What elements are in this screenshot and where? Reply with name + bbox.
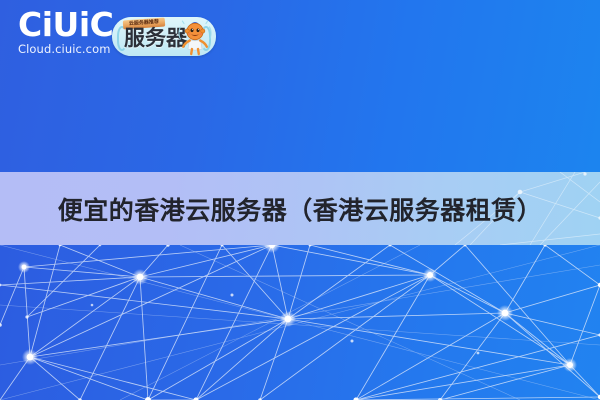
network-graphic-zone <box>0 245 600 400</box>
network-constellation-graphic <box>0 245 600 400</box>
title-band: 便宜的香港云服务器（香港云服务器租赁） <box>0 172 600 245</box>
logo-wordmark: CiUiC <box>18 8 114 42</box>
mascot-icon <box>176 18 214 56</box>
site-logo[interactable]: CiUiC Cloud.ciuic.com <box>18 8 114 60</box>
logo-domain-text: Cloud.ciuic.com <box>18 43 114 56</box>
page-title: 便宜的香港云服务器（香港云服务器租赁） <box>0 172 600 245</box>
banner-top-zone: CiUiC Cloud.ciuic.com 云服务器推荐 服务器 <box>0 0 600 172</box>
banner-image: CiUiC Cloud.ciuic.com 云服务器推荐 服务器 <box>0 0 600 400</box>
server-badge: 云服务器推荐 服务器 <box>112 17 216 56</box>
